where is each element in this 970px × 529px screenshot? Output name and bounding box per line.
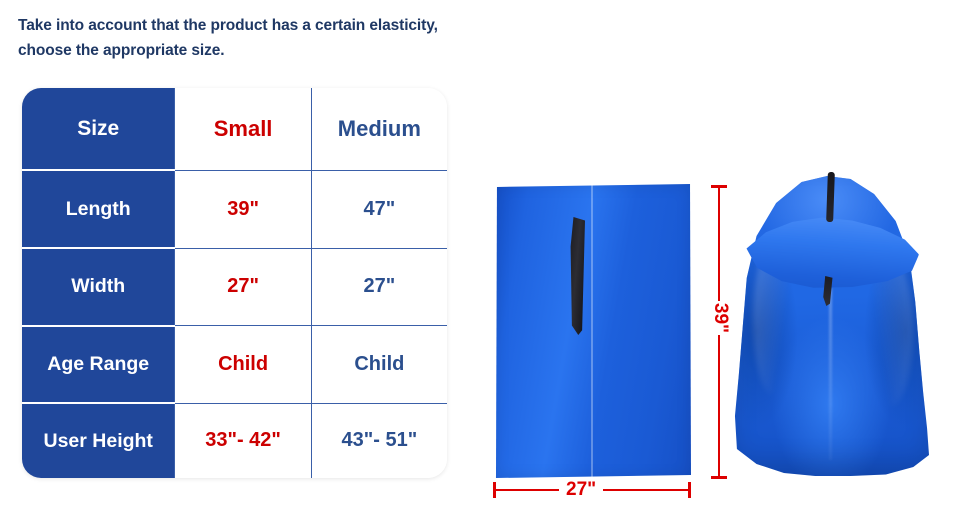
row-label-width: Width (22, 248, 175, 326)
row-label-age-range: Age Range (22, 326, 175, 404)
width-dimension-cap-left (493, 482, 496, 498)
height-dimension-cap-bottom (711, 476, 727, 479)
heading-line-2: choose the appropriate size. (18, 38, 538, 63)
cell-length-small: 39" (175, 170, 311, 248)
fabric-center-crease (829, 288, 832, 460)
cell-age-range-medium: Child (311, 326, 447, 404)
row-label-length: Length (22, 170, 175, 248)
page-title: Take into account that the product has a… (18, 13, 538, 63)
cell-width-medium: 27" (311, 248, 447, 326)
height-dimension-cap-top (711, 185, 727, 188)
table-header-medium: Medium (311, 88, 447, 170)
size-chart-canvas: Take into account that the product has a… (0, 0, 970, 529)
table-row: Width 27" 27" (22, 248, 447, 326)
heading-line-1: Take into account that the product has a… (18, 13, 538, 38)
row-label-user-height: User Height (22, 403, 175, 478)
cell-length-medium: 47" (311, 170, 447, 248)
cell-age-range-small: Child (175, 326, 311, 404)
cell-user-height-small: 33"- 42" (175, 403, 311, 478)
cell-width-small: 27" (175, 248, 311, 326)
draped-product-image (727, 168, 935, 480)
table-row: Age Range Child Child (22, 326, 447, 404)
table-header-small: Small (175, 88, 311, 170)
table-row: Length 39" 47" (22, 170, 447, 248)
table-row: User Height 33"- 42" 43"- 51" (22, 403, 447, 478)
size-table-grid: Size Small Medium Length 39" 47" Width 2… (22, 88, 447, 478)
center-seam (591, 184, 593, 478)
table-row: Size Small Medium (22, 88, 447, 170)
flat-product-image (495, 184, 691, 478)
size-table: Size Small Medium Length 39" 47" Width 2… (22, 88, 447, 478)
width-dimension-label: 27" (559, 478, 603, 502)
table-header-size: Size (22, 88, 175, 170)
width-dimension-cap-right (688, 482, 691, 498)
cell-user-height-medium: 43"- 51" (311, 403, 447, 478)
